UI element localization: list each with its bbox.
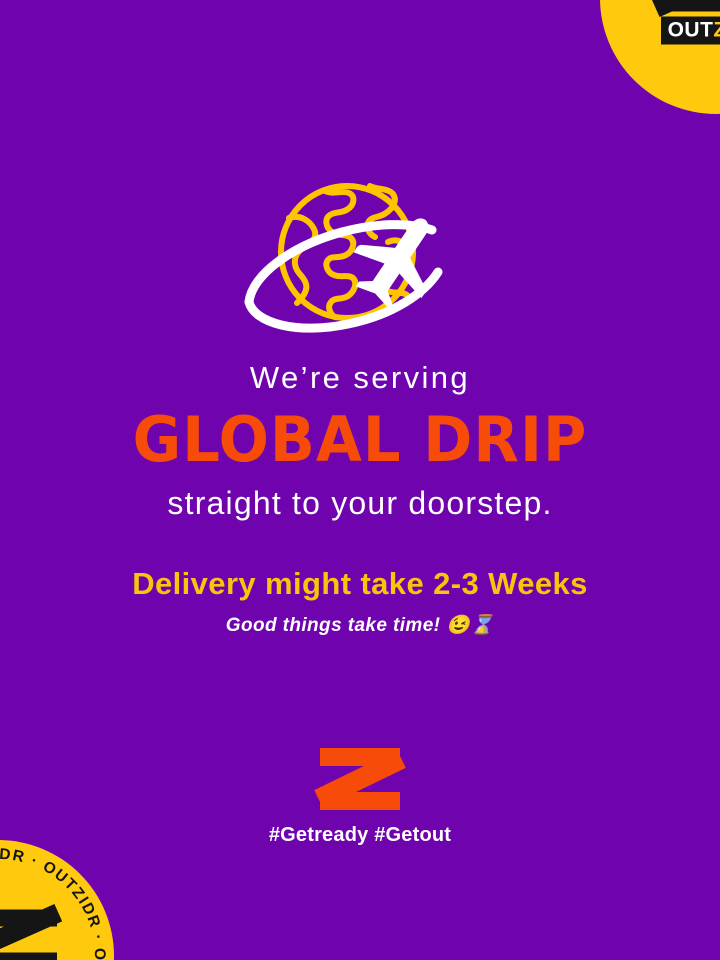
- seal-logomark-bottom-bar: [657, 0, 720, 12]
- hero-illustration: [0, 176, 720, 340]
- outzidr-seal-bottom-left: OUTZIDR · OUTZIDR · OUTZIDR · OUTZIDR · …: [0, 840, 114, 960]
- globe-with-airplane-icon: [242, 176, 478, 340]
- seal-core-bottom-left: OUTZIDR: [0, 910, 73, 960]
- subheadline-text: straight to your doorstep.: [0, 487, 720, 521]
- outzidr-z-logomark: [320, 748, 400, 810]
- brand-tagline-text: #Getready #Getout: [269, 824, 451, 847]
- headline-text: GLOBAL DRIP: [0, 409, 720, 471]
- seal-z-logomark: [0, 910, 57, 960]
- seal-wordmark-left: OUT: [668, 19, 714, 42]
- seal-z-logomark: [657, 0, 720, 12]
- seal-wordmark: OUTZIDR: [661, 17, 720, 45]
- outzidr-seal-top-right: OUTZIDR · OUTZIDR · OUTZIDR · OUTZIDR · …: [600, 0, 720, 114]
- brand-lockup: #Getready #Getout: [0, 748, 720, 847]
- promo-poster: We’re serving GLOBAL DRIP straight to yo…: [0, 0, 720, 960]
- copy-block: We’re serving GLOBAL DRIP straight to yo…: [0, 362, 720, 637]
- seal-core-top-right: OUTZIDR: [641, 0, 720, 45]
- delivery-notice-text: Delivery might take 2-3 Weeks: [0, 568, 720, 601]
- logomark-bottom-bar: [320, 792, 400, 810]
- delivery-subnote-text: Good things take time! 😉⌛: [0, 616, 720, 637]
- eyebrow-text: We’re serving: [0, 362, 720, 395]
- seal-logomark-bottom-bar: [0, 953, 57, 960]
- seal-wordmark-mid: Z: [713, 19, 720, 42]
